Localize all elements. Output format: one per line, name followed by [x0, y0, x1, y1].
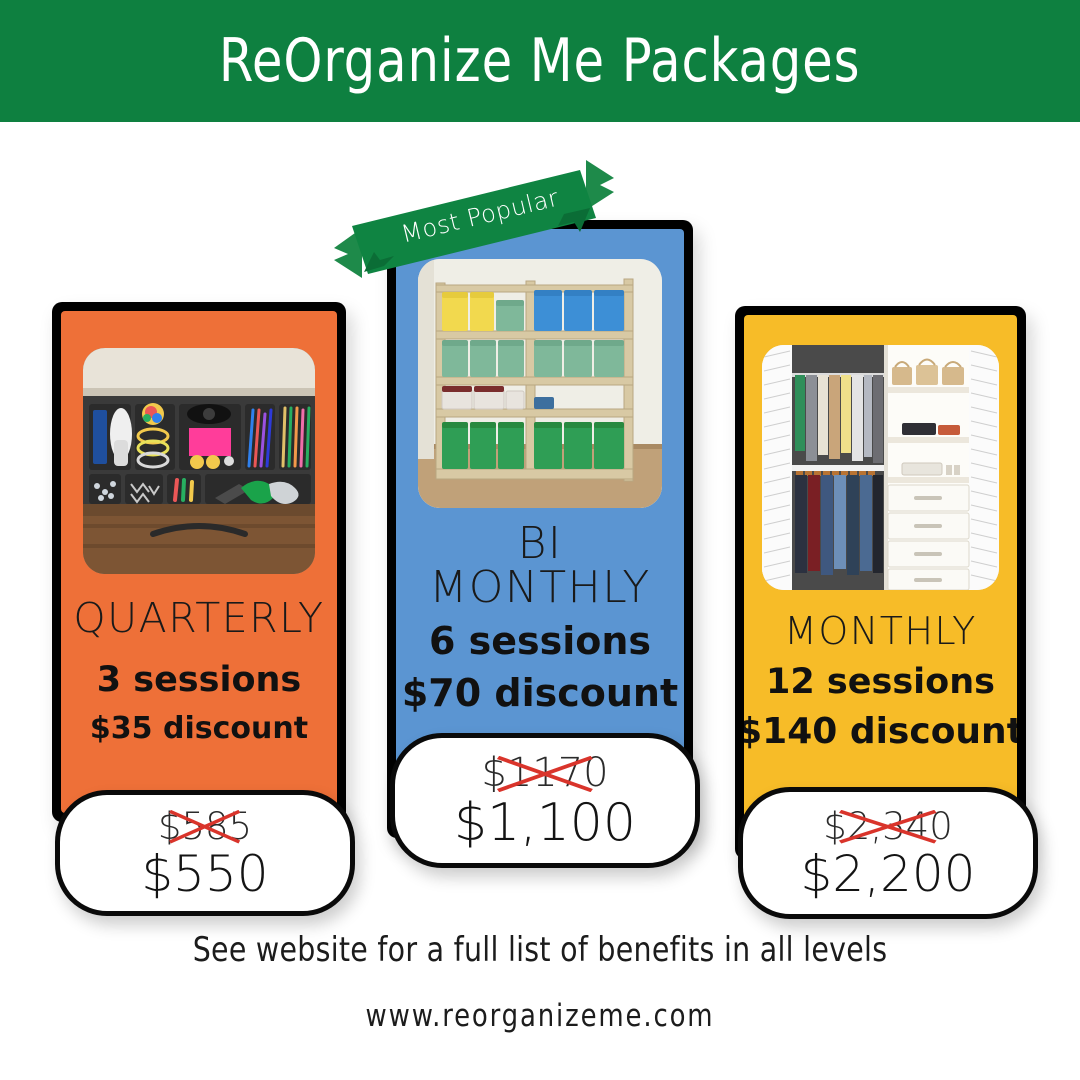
package-card-body: MONTHLY 12 sessions $140 discount [744, 315, 1017, 850]
website-url[interactable]: www.reorganizeme.com [38, 998, 1042, 1034]
organized-closet-photo [762, 345, 999, 590]
discount-monthly: $140 discount [744, 713, 1017, 751]
price-pill-bi-monthly[interactable]: $1170 $1,100 [390, 733, 700, 868]
sessions-bi-monthly: 6 sessions [429, 622, 651, 662]
footer: See website for a full list of benefits … [0, 930, 1080, 1034]
plan-name-quarterly: QUARTERLY [73, 598, 324, 639]
package-card-monthly[interactable]: MONTHLY 12 sessions $140 discount [735, 306, 1026, 859]
footer-note: See website for a full list of benefits … [38, 930, 1042, 970]
ribbon-shape [328, 160, 620, 282]
price-pill-monthly[interactable]: $2,340 $2,200 [738, 787, 1038, 919]
new-price-bi-monthly: $1,100 [454, 797, 636, 849]
new-price-quarterly: $550 [141, 849, 268, 899]
plan-name-monthly: MONTHLY [784, 612, 977, 650]
closet-illustration [762, 345, 999, 590]
old-price-wrapper-monthly: $2,340 [823, 808, 952, 845]
plan-name-line2: MONTHLY [429, 562, 651, 613]
new-price-monthly: $2,200 [801, 849, 976, 899]
package-card-quarterly[interactable]: QUARTERLY 3 sessions $35 discount [52, 302, 346, 822]
old-price-bi-monthly: $1170 [481, 750, 608, 796]
price-pill-quarterly[interactable]: $585 $550 [55, 790, 355, 916]
shelving-illustration [418, 259, 662, 508]
header-banner: ReOrganize Me Packages [0, 0, 1080, 122]
plan-name-bi-monthly: BI MONTHLY [429, 522, 651, 610]
old-price-wrapper-bi-monthly: $1170 [481, 753, 608, 793]
package-card-body: QUARTERLY 3 sessions $35 discount [61, 311, 337, 813]
old-price-monthly: $2,340 [823, 805, 952, 848]
old-price-quarterly: $585 [158, 805, 252, 848]
most-popular-ribbon: Most Popular [328, 160, 620, 282]
drawer-illustration [83, 348, 315, 574]
sessions-monthly: 12 sessions [766, 664, 995, 701]
pricing-infographic: ReOrganize Me Packages [0, 0, 1080, 1080]
old-price-wrapper-quarterly: $585 [158, 808, 252, 845]
page-title: ReOrganize Me Packages [219, 26, 861, 96]
sessions-quarterly: 3 sessions [97, 662, 302, 699]
discount-quarterly: $35 discount [90, 713, 308, 745]
organized-drawer-photo [83, 348, 315, 574]
discount-bi-monthly: $70 discount [402, 674, 678, 714]
garage-shelving-bins-photo [418, 259, 662, 508]
